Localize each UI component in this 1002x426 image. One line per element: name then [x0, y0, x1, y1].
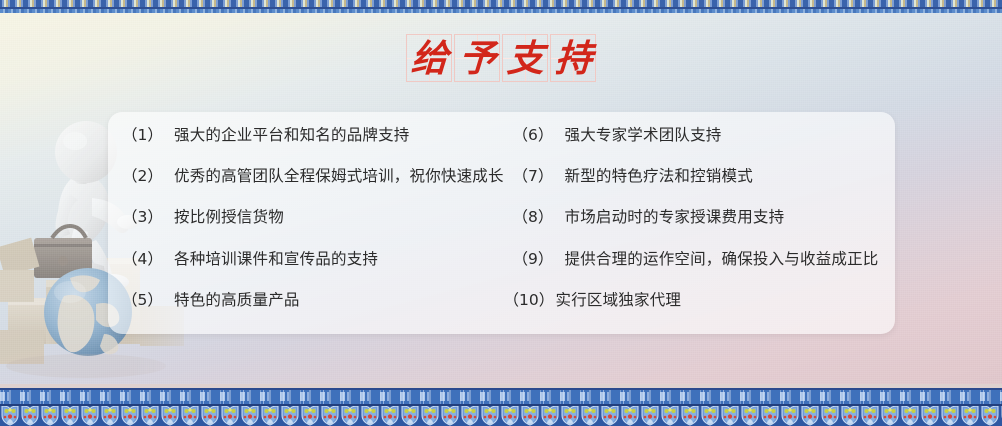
list-item: （1） 强大的企业平台和知名的品牌支持	[122, 128, 505, 169]
bullet-column-left: （1） 强大的企业平台和知名的品牌支持 （2） 优秀的高管团队全程保姆式培训，祝…	[108, 112, 505, 334]
list-item-number: （9）	[513, 252, 565, 268]
list-item: （8） 市场启动时的专家授课费用支持	[513, 210, 896, 251]
list-item: （6） 强大专家学术团队支持	[513, 128, 896, 169]
list-item-number: （5）	[122, 293, 174, 309]
bullet-column-right: （6） 强大专家学术团队支持 （7） 新型的特色疗法和控销模式 （8） 市场启动…	[505, 112, 896, 334]
list-item-number: （1）	[122, 128, 174, 144]
list-item-label: 特色的高质量产品	[174, 293, 300, 309]
list-item-number: （6）	[513, 128, 565, 144]
presentation-slide: 给 予 支 持 （1） 强大的企业平台和知名的品牌支持 （2） 优秀的高管团队全…	[0, 0, 1002, 426]
list-item-number: （10）	[504, 293, 556, 309]
title-grid-cell: 给	[406, 34, 452, 82]
list-item-number: （2）	[122, 169, 174, 185]
list-item-label: 实行区域独家代理	[556, 293, 682, 309]
top-decorative-border	[0, 0, 1002, 13]
briefcase	[34, 226, 92, 278]
bullet-columns: （1） 强大的企业平台和知名的品牌支持 （2） 优秀的高管团队全程保姆式培训，祝…	[108, 112, 895, 334]
list-item-label: 优秀的高管团队全程保姆式培训，祝你快速成长	[174, 169, 504, 185]
scallop-pattern-svg	[0, 406, 1002, 426]
title-grid-cell: 支	[502, 34, 548, 82]
list-item: （2） 优秀的高管团队全程保姆式培训，祝你快速成长	[122, 169, 505, 210]
bottom-border-motif-band	[0, 390, 1002, 404]
list-item: （9） 提供合理的运作空间，确保投入与收益成正比	[513, 252, 896, 293]
list-item: （10） 实行区域独家代理	[513, 293, 896, 334]
content-panel: （1） 强大的企业平台和知名的品牌支持 （2） 优秀的高管团队全程保姆式培训，祝…	[108, 112, 895, 334]
list-item-label: 强大专家学术团队支持	[565, 128, 722, 144]
list-item-label: 市场启动时的专家授课费用支持	[565, 210, 785, 226]
title-char: 支	[506, 40, 545, 77]
list-item: （5） 特色的高质量产品	[122, 293, 505, 334]
top-border-lower-band	[0, 9, 1002, 13]
bottom-border-scallop	[0, 406, 1002, 426]
page-title: 给 予 支 持	[0, 34, 1002, 82]
list-item: （3） 按比例授信货物	[122, 210, 505, 251]
title-char: 持	[554, 40, 593, 77]
list-item-label: 新型的特色疗法和控销模式	[565, 169, 753, 185]
title-grid-cell: 予	[454, 34, 500, 82]
list-item-number: （4）	[122, 252, 174, 268]
list-item-label: 各种培训课件和宣传品的支持	[174, 252, 378, 268]
list-item-number: （8）	[513, 210, 565, 226]
list-item: （7） 新型的特色疗法和控销模式	[513, 169, 896, 210]
top-border-pattern	[0, 0, 1002, 7]
list-item-label: 强大的企业平台和知名的品牌支持	[174, 128, 410, 144]
list-item-number: （7）	[513, 169, 565, 185]
list-item-label: 提供合理的运作空间，确保投入与收益成正比	[565, 252, 879, 268]
title-char: 予	[458, 40, 497, 77]
bottom-decorative-border	[0, 384, 1002, 426]
list-item-number: （3）	[122, 210, 174, 226]
title-grid-cell: 持	[550, 34, 596, 82]
list-item-label: 按比例授信货物	[174, 210, 284, 226]
list-item: （4） 各种培训课件和宣传品的支持	[122, 252, 505, 293]
title-char: 给	[410, 40, 449, 77]
